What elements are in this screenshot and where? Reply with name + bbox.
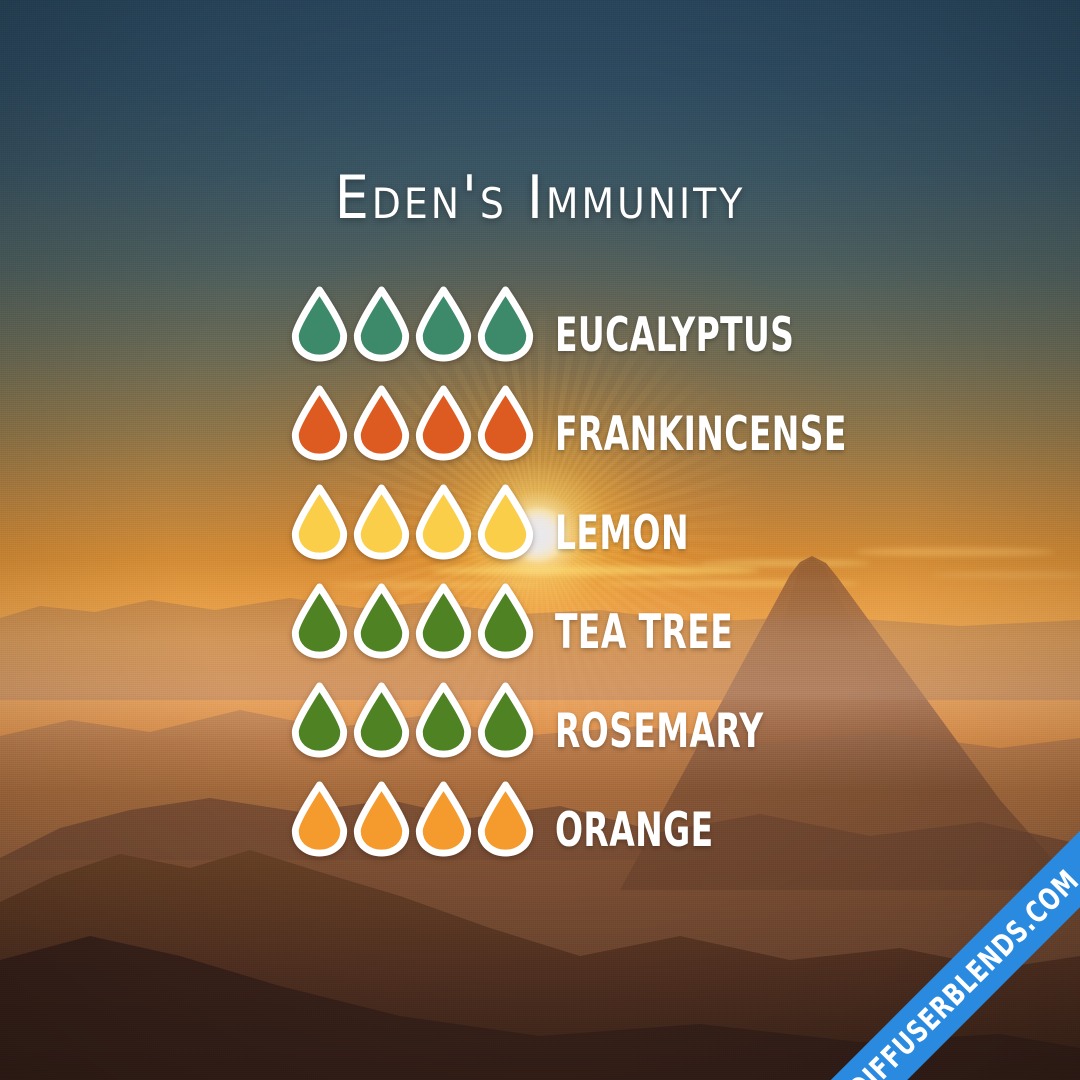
watermark-text: DIFFUSERBLENDS.COM <box>842 863 1080 1080</box>
oil-drop-icon <box>477 583 534 659</box>
oil-name-label: ORANGE <box>555 807 714 854</box>
oil-drop-icon <box>415 286 472 362</box>
oil-drop-icon <box>415 682 472 758</box>
drop-count-group <box>291 286 539 362</box>
drop-count-group <box>291 781 539 857</box>
oil-drop-icon <box>477 286 534 362</box>
oil-name-label: ROSEMARY <box>555 708 763 755</box>
oil-name-label: EUCALYPTUS <box>555 312 794 359</box>
page-title: Eden's Immunity <box>0 168 1080 228</box>
oil-drop-icon <box>353 385 410 461</box>
drop-count-group <box>291 484 539 560</box>
oil-drop-icon <box>353 583 410 659</box>
oil-drop-icon <box>477 781 534 857</box>
drop-count-group <box>291 385 539 461</box>
oil-drop-icon <box>291 682 348 758</box>
oil-drop-icon <box>477 484 534 560</box>
blend-row: TEA TREE <box>0 583 1080 682</box>
oil-drop-icon <box>477 385 534 461</box>
oil-drop-icon <box>291 286 348 362</box>
ribbon-band: DIFFUSERBLENDS.COM <box>803 824 1080 1080</box>
oil-name-label: TEA TREE <box>555 609 733 656</box>
drop-count-group <box>291 682 539 758</box>
oil-drop-icon <box>353 484 410 560</box>
blend-row: EUCALYPTUS <box>0 286 1080 385</box>
oil-drop-icon <box>353 781 410 857</box>
diffuser-blend-poster: Eden's Immunity EUCALYPTUSFRANKINCENSELE… <box>0 0 1080 1080</box>
blend-row: FRANKINCENSE <box>0 385 1080 484</box>
oil-drop-icon <box>415 484 472 560</box>
oil-drop-icon <box>415 385 472 461</box>
oil-name-label: FRANKINCENSE <box>555 411 847 458</box>
oil-drop-icon <box>353 682 410 758</box>
oil-drop-icon <box>291 781 348 857</box>
oil-drop-icon <box>291 385 348 461</box>
oil-drop-icon <box>415 583 472 659</box>
oil-drop-icon <box>291 583 348 659</box>
oil-drop-icon <box>291 484 348 560</box>
blend-row: ROSEMARY <box>0 682 1080 781</box>
oil-drop-icon <box>353 286 410 362</box>
oil-drop-icon <box>415 781 472 857</box>
blend-row: LEMON <box>0 484 1080 583</box>
watermark-ribbon: DIFFUSERBLENDS.COM <box>780 780 1080 1080</box>
oil-drop-icon <box>477 682 534 758</box>
drop-count-group <box>291 583 539 659</box>
oil-name-label: LEMON <box>555 510 689 557</box>
